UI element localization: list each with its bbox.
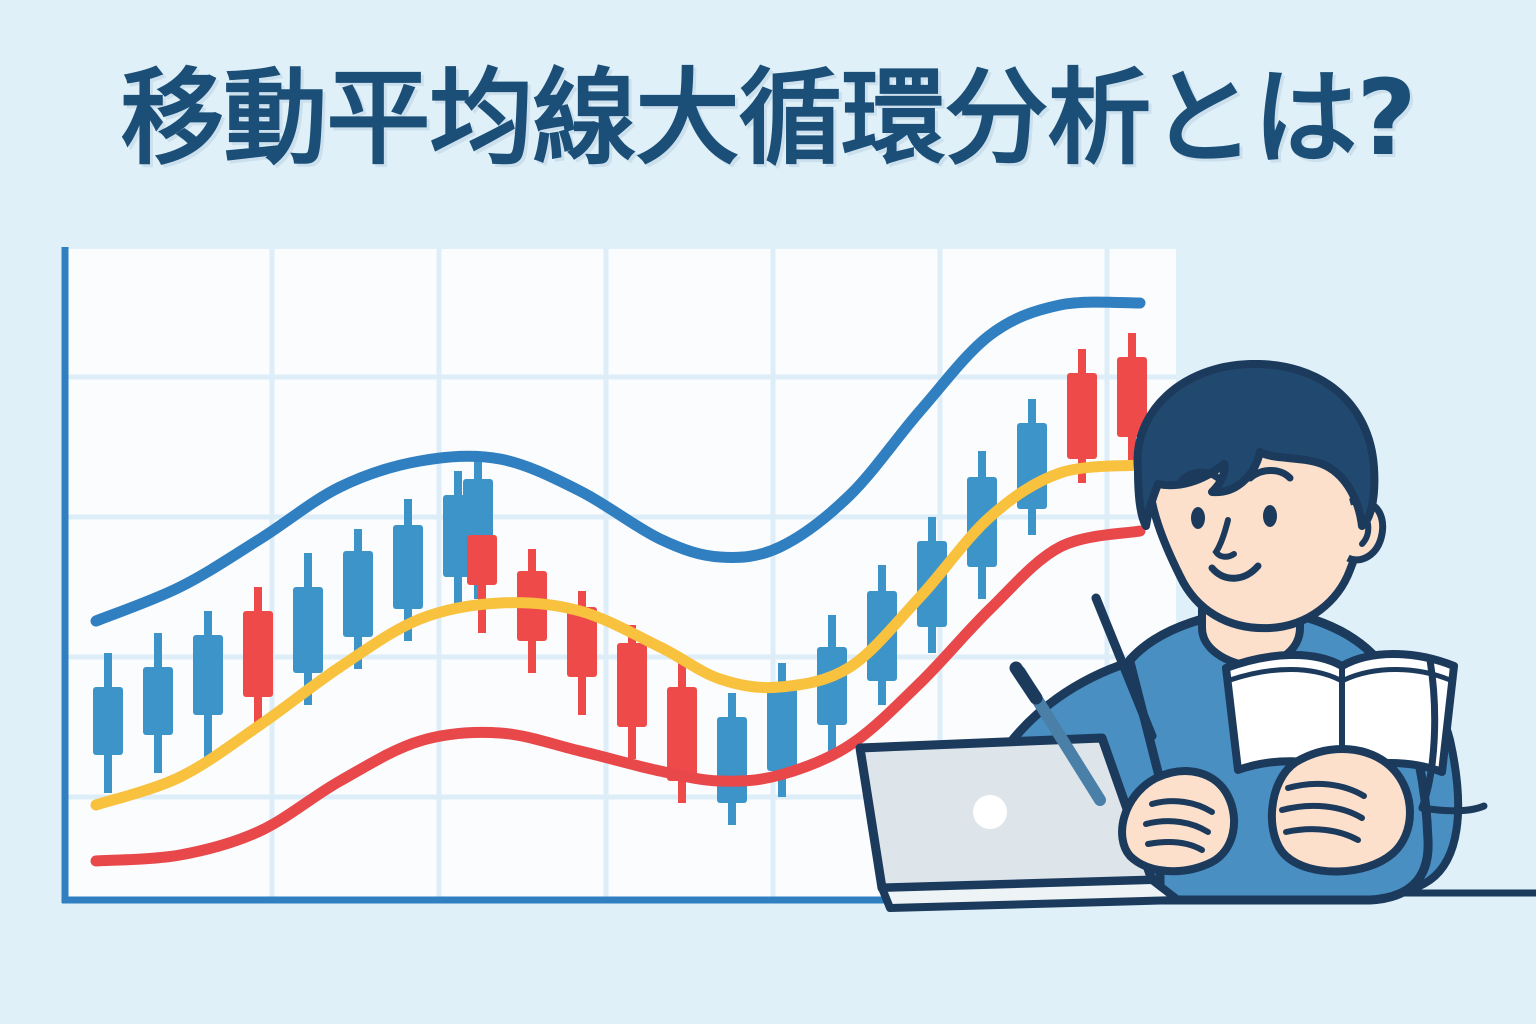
candle-body xyxy=(293,587,323,673)
candle-body xyxy=(667,687,697,781)
person-svg xyxy=(830,360,1536,940)
candle-body xyxy=(193,635,223,715)
candle-body xyxy=(617,643,647,727)
candle-body xyxy=(243,611,273,697)
candle-body xyxy=(717,717,747,803)
person-illustration xyxy=(830,360,1536,940)
candle-body xyxy=(143,667,173,735)
candle-body xyxy=(393,525,423,609)
laptop-base xyxy=(882,880,1178,908)
candle-body xyxy=(467,535,497,585)
pen-tip xyxy=(1016,668,1036,698)
candle-body xyxy=(463,479,493,543)
candle-body xyxy=(767,687,797,771)
candle-body xyxy=(343,551,373,637)
page-title: 移動平均線大循環分析とは? xyxy=(0,56,1536,180)
candle-body xyxy=(93,687,123,755)
poster-canvas: 移動平均線大循環分析とは? xyxy=(0,0,1536,1024)
person-eye-right xyxy=(1263,505,1277,527)
person-eye-left xyxy=(1191,507,1205,529)
laptop-logo xyxy=(973,795,1007,829)
